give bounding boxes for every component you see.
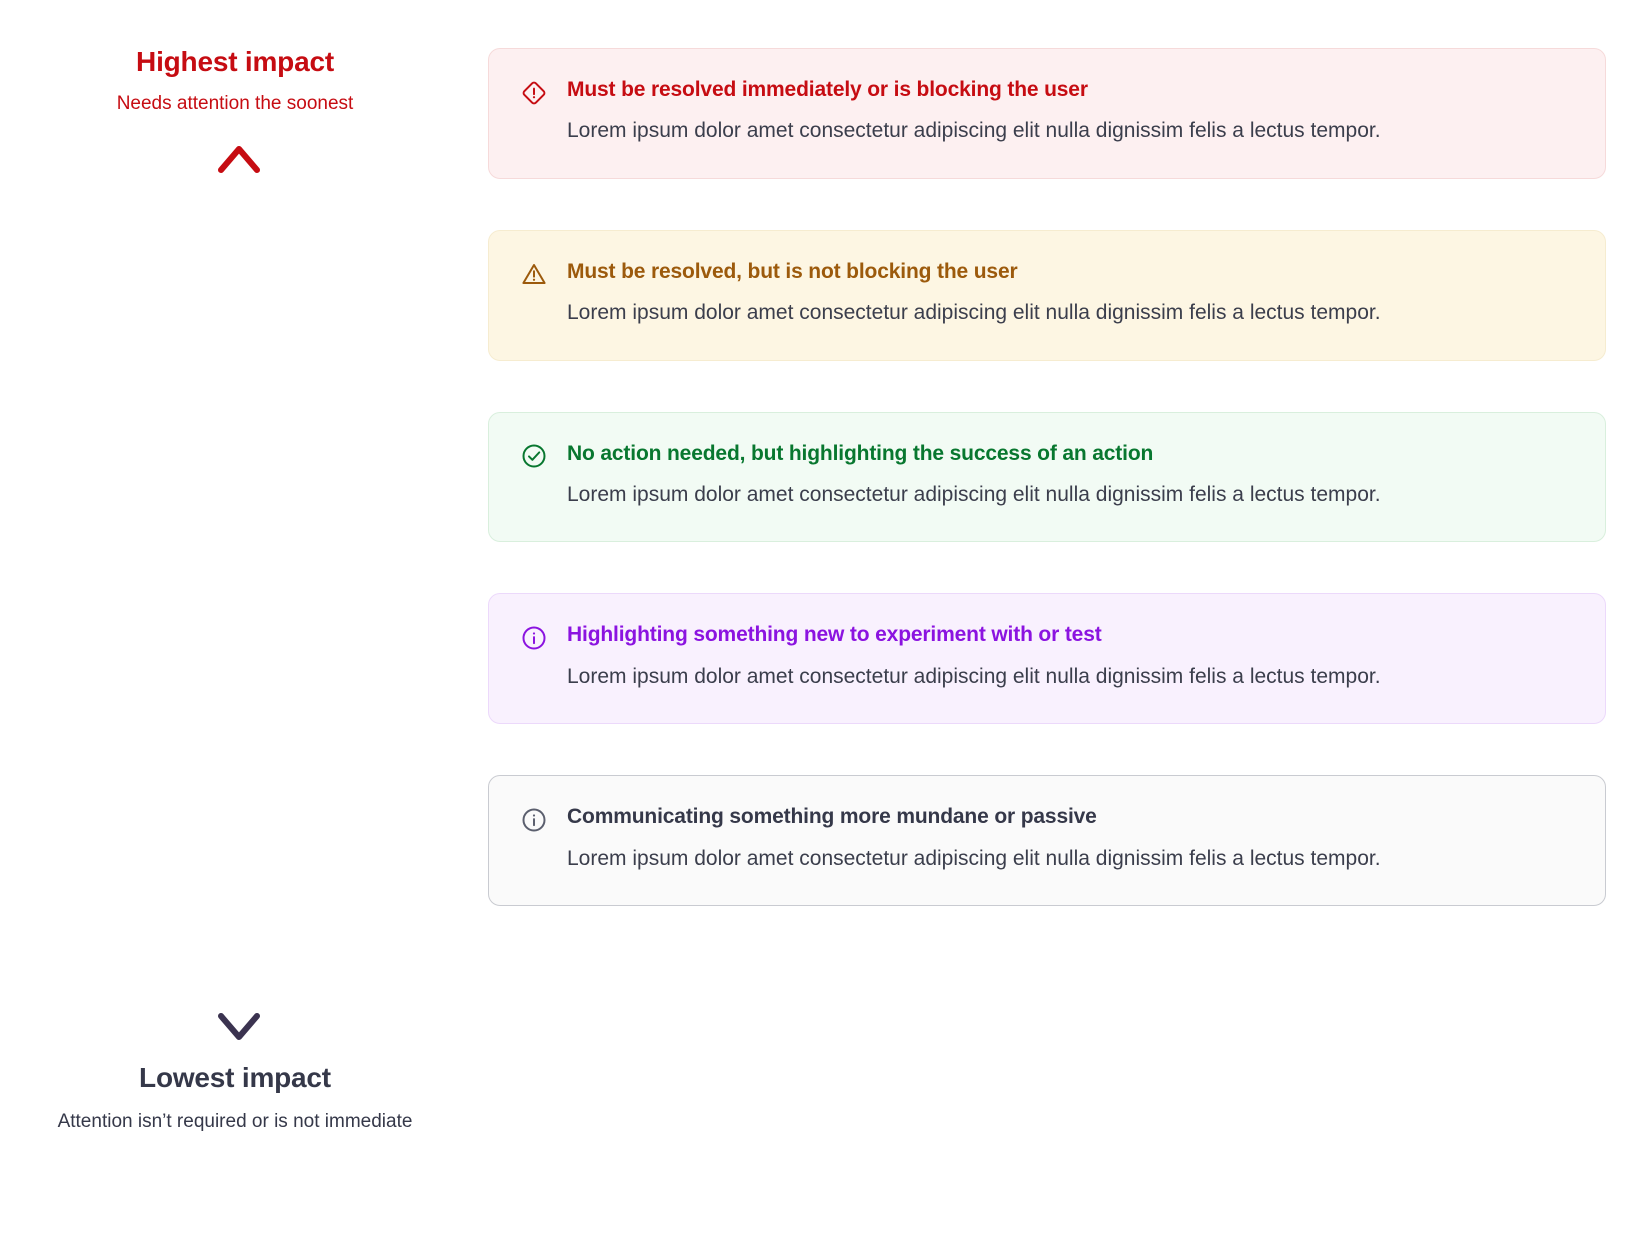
vertical-double-arrow-gradient-icon — [194, 143, 284, 1043]
alert-card-description: Lorem ipsum dolor amet consectetur adipi… — [567, 294, 1487, 331]
highest-impact-title: Highest impact — [0, 44, 470, 79]
highest-impact-caption: Needs attention the soonest — [0, 92, 470, 116]
alert-card-title: Must be resolved, but is not blocking th… — [567, 257, 1575, 287]
impact-scale-page: Highest impact Needs attention the soone… — [0, 0, 1652, 1248]
alert-card-title: Must be resolved immediately or is block… — [567, 75, 1575, 105]
highest-impact-label-group: Highest impact Needs attention the soone… — [0, 44, 470, 116]
alert-card-description: Lorem ipsum dolor amet consectetur adipi… — [567, 658, 1487, 695]
impact-scale-axis: Highest impact Needs attention the soone… — [0, 0, 470, 1248]
alert-card-critical: Must be resolved immediately or is block… — [488, 48, 1606, 179]
lowest-impact-title: Lowest impact — [0, 1060, 470, 1095]
lowest-impact-label-group: Lowest impact Attention isn’t required o… — [0, 1060, 470, 1134]
alert-card-warning: Must be resolved, but is not blocking th… — [488, 230, 1606, 361]
alert-card-title: No action needed, but highlighting the s… — [567, 439, 1575, 469]
lowest-impact-caption: Attention isn’t required or is not immed… — [0, 1110, 470, 1134]
alert-card-description: Lorem ipsum dolor amet consectetur adipi… — [567, 112, 1487, 149]
circle-info-icon — [519, 620, 549, 654]
alert-card-neutral: Communicating something more mundane or … — [488, 775, 1606, 906]
alert-card-title: Communicating something more mundane or … — [567, 802, 1575, 832]
alert-card-title: Highlighting something new to experiment… — [567, 620, 1575, 650]
alert-card-description: Lorem ipsum dolor amet consectetur adipi… — [567, 840, 1487, 877]
circle-check-icon — [519, 439, 549, 473]
alert-card-success: No action needed, but highlighting the s… — [488, 412, 1606, 543]
diamond-exclamation-icon — [519, 75, 549, 109]
alert-card-experiment: Highlighting something new to experiment… — [488, 593, 1606, 724]
alert-variant-list: Must be resolved immediately or is block… — [488, 48, 1606, 906]
triangle-exclamation-icon — [519, 257, 549, 291]
impact-gradient-arrow — [194, 143, 284, 1043]
alert-card-description: Lorem ipsum dolor amet consectetur adipi… — [567, 476, 1487, 513]
circle-info-icon — [519, 802, 549, 836]
